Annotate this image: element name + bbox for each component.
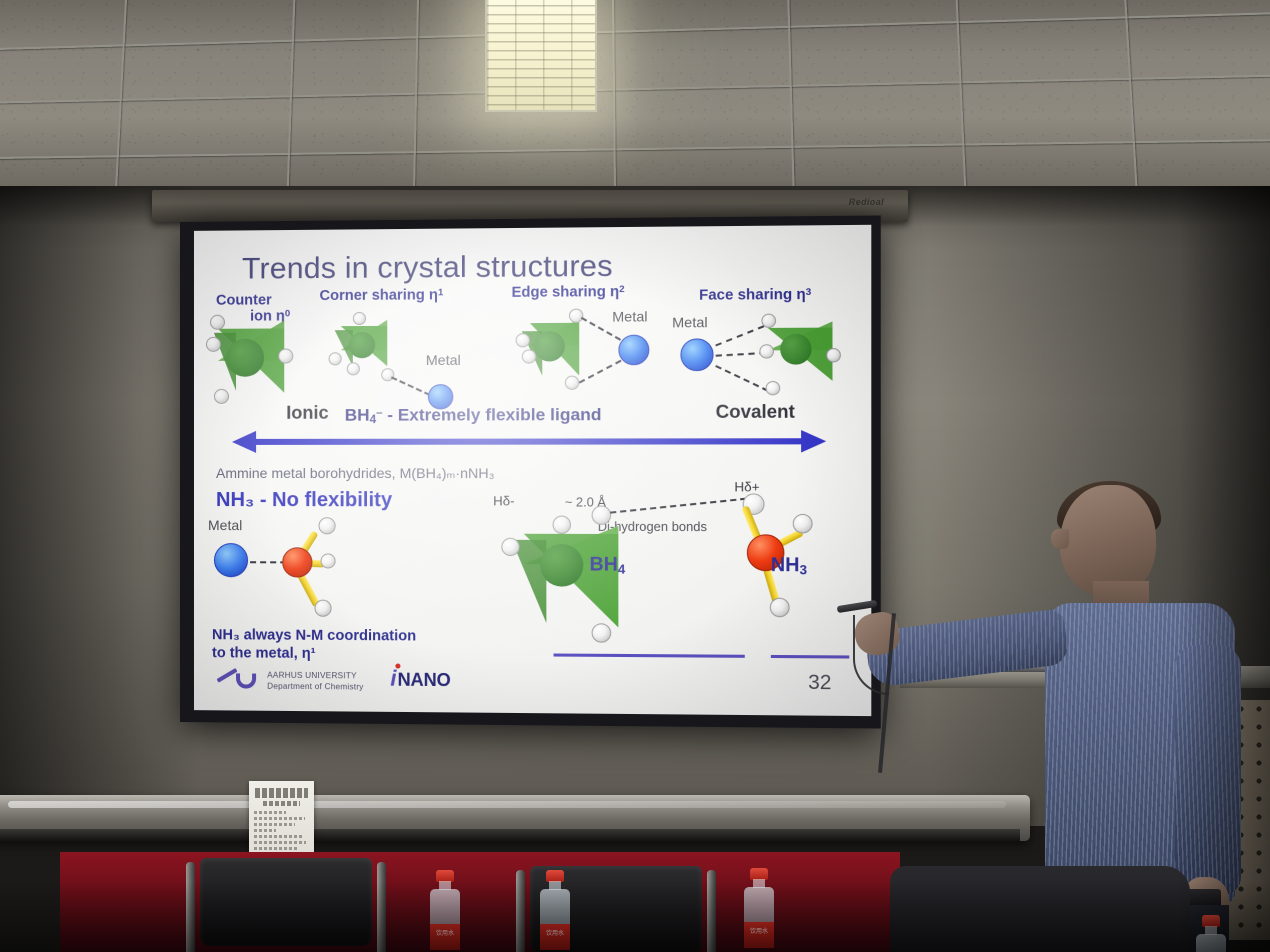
au-logo-text: AARHUS UNIVERSITY Department of Chemistr… bbox=[267, 671, 363, 694]
hydrogen-atom bbox=[329, 352, 342, 365]
hydrogen-atom bbox=[278, 348, 293, 363]
molecule-corner-sharing: Metal bbox=[329, 311, 481, 412]
rail-highlight bbox=[8, 801, 1006, 808]
suspended-ceiling bbox=[0, 0, 1270, 196]
boron-atom bbox=[226, 339, 264, 377]
hydrogen-atom bbox=[347, 362, 360, 375]
hydrogen-atom bbox=[793, 514, 813, 533]
label-edge-sharing: Edge sharing η2 bbox=[512, 284, 625, 301]
light-louver-grid bbox=[487, 0, 595, 110]
ionic-covalent-arrow bbox=[232, 430, 826, 453]
au-slash-shape bbox=[217, 668, 238, 683]
label-metal-left: Metal bbox=[208, 517, 242, 533]
label-metal-corner: Metal bbox=[426, 352, 461, 368]
hydrogen-atom bbox=[766, 381, 781, 395]
au-u-shape bbox=[236, 674, 256, 689]
bh4-subscript: 4 bbox=[618, 561, 625, 576]
hydrogen-atom bbox=[761, 314, 776, 328]
di-hydrogen-bond bbox=[610, 497, 757, 514]
slide-page-number: 32 bbox=[808, 672, 831, 696]
label-corner-sharing: Corner sharing η1 bbox=[320, 287, 444, 304]
hydrogen-atom bbox=[516, 333, 530, 347]
slide-surface: Trends in crystal structures Counter ion… bbox=[194, 225, 871, 716]
label-bh4-flexible-ligand: BH4– - Extremely flexible ligand bbox=[345, 405, 602, 426]
label-bh4-tag: BH4 bbox=[590, 554, 626, 576]
hydrogen-atom bbox=[770, 598, 790, 618]
sign-title-text bbox=[255, 788, 308, 798]
arrow-head-right bbox=[801, 430, 826, 453]
molecule-metal-nh3: Metal bbox=[208, 517, 359, 638]
hydrogen-atom bbox=[553, 516, 571, 534]
hydrogen-atom bbox=[214, 389, 229, 404]
coordination-bond bbox=[715, 365, 768, 392]
metal-atom bbox=[680, 338, 713, 371]
inano-logo: i NANO bbox=[390, 666, 450, 693]
housing-brand-text: Redioal bbox=[849, 197, 884, 207]
coordination-bond bbox=[250, 561, 286, 563]
metal-atom bbox=[618, 335, 649, 366]
aarhus-university-logo: AARHUS UNIVERSITY Department of Chemistr… bbox=[216, 671, 364, 694]
presenter-nose bbox=[1051, 529, 1069, 549]
boron-atom bbox=[540, 544, 583, 587]
label-metal-face: Metal bbox=[672, 314, 707, 330]
hydrogen-atom bbox=[381, 368, 394, 381]
hydrogen-atom bbox=[592, 623, 612, 642]
molecule-counter-ion bbox=[206, 310, 316, 411]
coordination-bond bbox=[579, 360, 622, 384]
hydrogen-atom bbox=[565, 376, 579, 390]
molecule-face-sharing: Metal bbox=[672, 309, 849, 412]
label-covalent: Covalent bbox=[716, 401, 795, 423]
metal-atom bbox=[214, 543, 248, 577]
label-nh3-coordination-note: NH₃ always N-M coordination to the metal… bbox=[212, 626, 416, 664]
inano-wordmark: NANO bbox=[398, 670, 451, 692]
label-nh3-tag: NH3 bbox=[771, 555, 807, 578]
rail-shadow bbox=[0, 829, 1020, 841]
hydrogen-atom bbox=[826, 348, 841, 362]
hydrogen-atom bbox=[314, 600, 331, 617]
hydrogen-atom bbox=[318, 517, 335, 534]
sign-subtitle-text bbox=[263, 801, 300, 806]
hydrogen-atom bbox=[210, 315, 225, 330]
arrow-shaft bbox=[254, 438, 803, 445]
inano-dot-icon bbox=[395, 664, 400, 669]
nitrogen-atom bbox=[282, 547, 312, 577]
hydrogen-atom bbox=[592, 506, 612, 525]
hydrogen-atom bbox=[501, 538, 519, 556]
footer-rule bbox=[771, 655, 849, 659]
scene-shading bbox=[0, 882, 1270, 952]
au-logo-mark bbox=[216, 671, 260, 691]
scene-shading bbox=[1180, 186, 1270, 952]
au-line-2: Department of Chemistry bbox=[267, 682, 363, 694]
inano-i-glyph: i bbox=[390, 666, 396, 692]
label-h-delta-plus: Hδ+ bbox=[734, 479, 759, 494]
pointer-lanyard bbox=[853, 615, 889, 695]
label-ammine-formula: Ammine metal borohydrides, M(BH₄)ₘ·nNH₃ bbox=[216, 465, 494, 482]
hydrogen-atom bbox=[321, 553, 336, 568]
label-face-sharing: Face sharing η3 bbox=[699, 287, 811, 304]
coordination-bond bbox=[715, 325, 764, 346]
lecture-room-photo: Redioal Trends in crystal structures Cou… bbox=[0, 0, 1270, 952]
boron-atom bbox=[349, 332, 375, 358]
hydrogen-atom bbox=[759, 344, 774, 358]
coordination-bond bbox=[391, 376, 431, 396]
boron-atom bbox=[534, 331, 565, 362]
molecule-bh4-nh3-pair bbox=[487, 503, 797, 667]
coordination-bond bbox=[716, 352, 766, 357]
molecule-edge-sharing: Metal bbox=[516, 306, 670, 408]
hydrogen-atom bbox=[353, 312, 366, 325]
au-line-1: AARHUS UNIVERSITY bbox=[267, 671, 363, 683]
fluorescent-light-fixture bbox=[485, 0, 597, 112]
label-ionic: Ionic bbox=[286, 403, 328, 424]
boron-atom bbox=[780, 334, 811, 365]
nh3-subscript: 3 bbox=[799, 562, 807, 577]
wall-shading bbox=[0, 186, 200, 826]
arrow-head-left bbox=[232, 431, 256, 453]
slide-title: Trends in crystal structures bbox=[242, 249, 613, 286]
label-nh3-no-flexibility: NH₃ - No flexibility bbox=[216, 489, 392, 512]
hydrogen-atom bbox=[522, 349, 536, 363]
projection-screen: Trends in crystal structures Counter ion… bbox=[180, 215, 881, 728]
label-metal-edge: Metal bbox=[612, 308, 647, 324]
metal-handrail bbox=[0, 795, 1030, 841]
hydrogen-atom bbox=[206, 337, 221, 352]
